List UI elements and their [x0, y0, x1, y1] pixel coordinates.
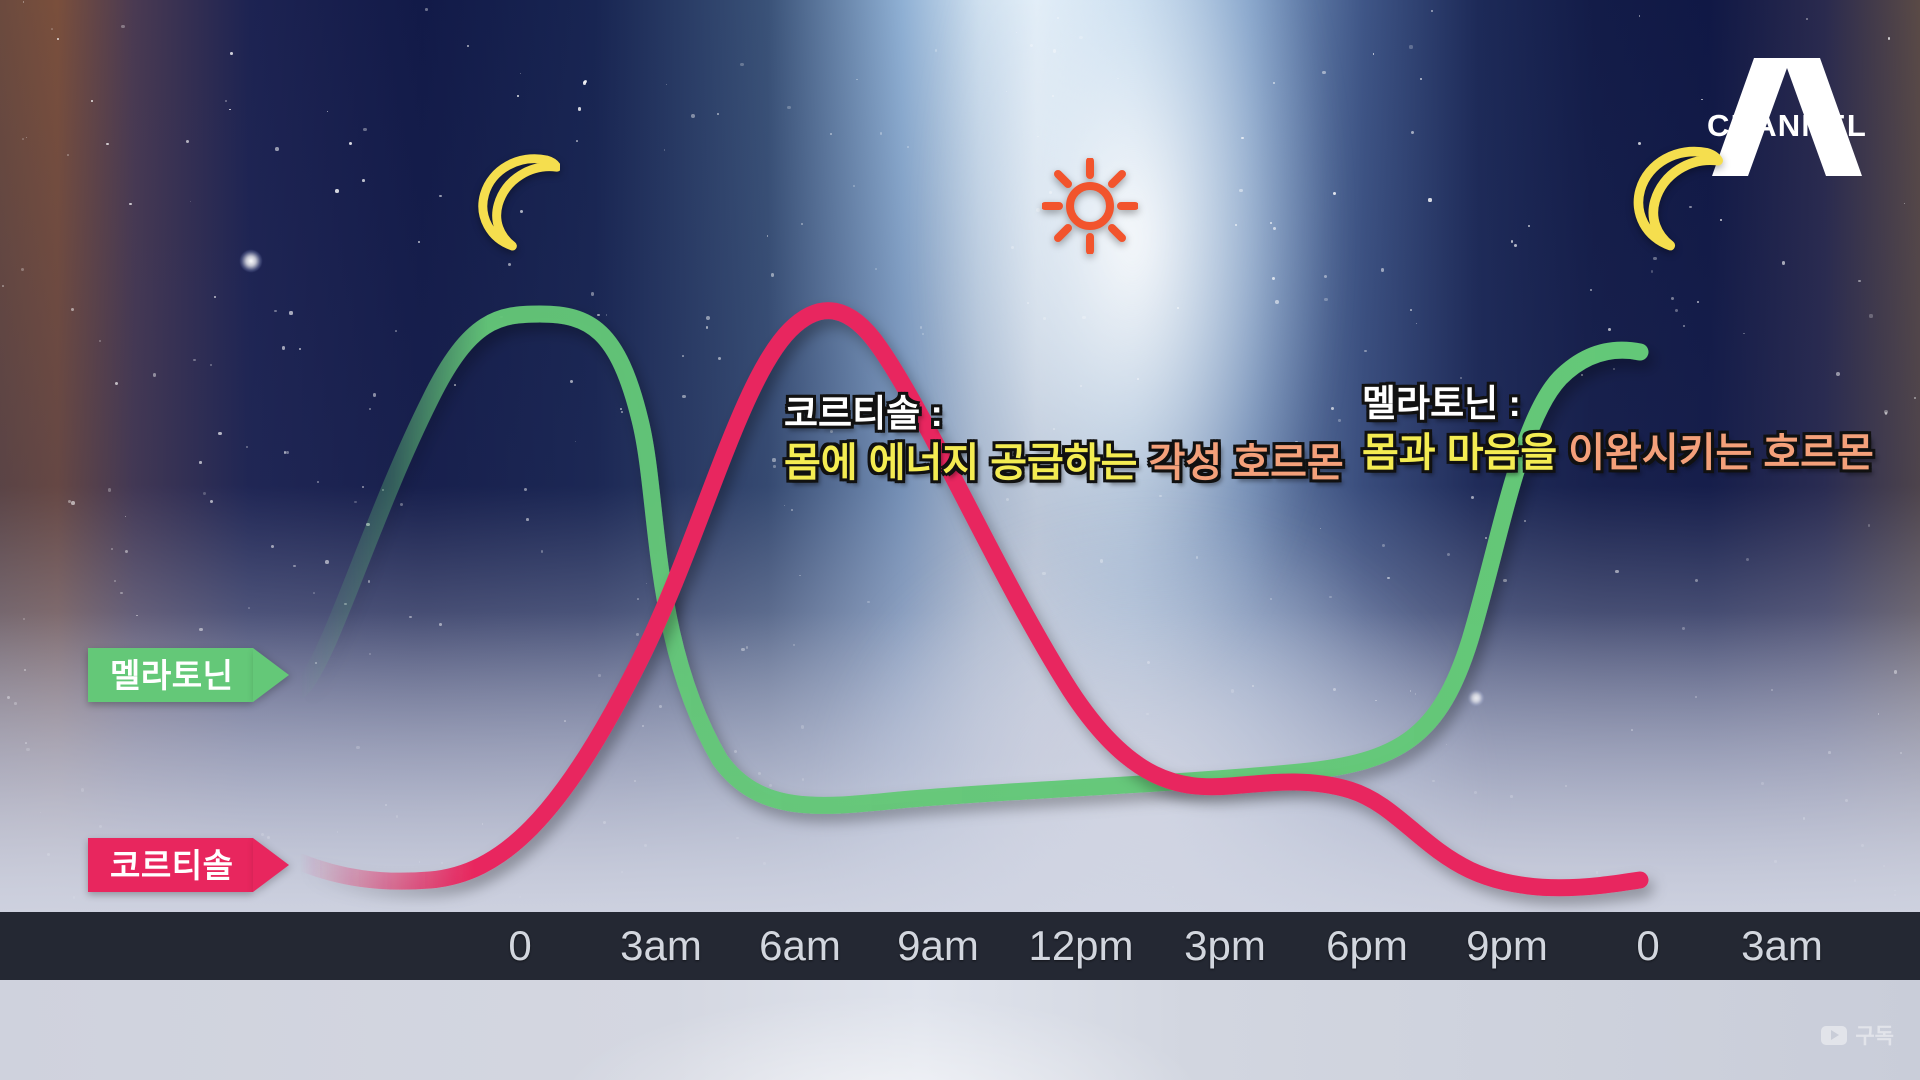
axis-tick-label: 0: [1636, 922, 1659, 970]
legend-melatonin[interactable]: 멜라토닌: [88, 648, 289, 702]
callout-melatonin-phrase-2: 이완시키는 호르몬: [1568, 431, 1874, 475]
axis-tick-label: 9am: [897, 922, 979, 970]
legend-cortisol-arrow-icon: [253, 838, 289, 892]
legend-melatonin-arrow-icon: [253, 648, 289, 702]
legend-melatonin-label: 멜라토닌: [88, 648, 253, 702]
chart-canvas: CHANNEL: [0, 0, 1920, 1080]
lower-backdrop: [0, 980, 1920, 1080]
axis-tick-label: 6am: [759, 922, 841, 970]
legend-cortisol[interactable]: 코르티솔: [88, 838, 289, 892]
callout-cortisol-phrase-2: 각성 호르몬: [1149, 441, 1344, 485]
axis-tick-label: 3am: [1741, 922, 1823, 970]
axis-tick-label: 9pm: [1466, 922, 1548, 970]
subscribe-label: 구독: [1855, 1020, 1894, 1050]
callout-cortisol-phrase-1: 몸에 에너지 공급하는: [784, 441, 1137, 485]
youtube-play-icon: [1821, 1026, 1847, 1045]
axis-tick-label: 3pm: [1184, 922, 1266, 970]
subscribe-watermark[interactable]: 구독: [1821, 1020, 1894, 1050]
legend-cortisol-label: 코르티솔: [88, 838, 253, 892]
axis-tick-label: 3am: [620, 922, 702, 970]
callout-melatonin: 멜라토닌 : 몸과 마음을 이완시키는 호르몬: [1362, 382, 1874, 477]
callout-cortisol-heading: 코르티솔 :: [784, 392, 1344, 436]
callout-melatonin-heading: 멜라토닌 :: [1362, 382, 1874, 426]
moon-icon: [1620, 140, 1724, 252]
axis-tick-label: 0: [508, 922, 531, 970]
callout-melatonin-phrase-1: 몸과 마음을: [1362, 431, 1557, 475]
axis-tick-label: 6pm: [1326, 922, 1408, 970]
axis-tick-label: 12pm: [1028, 922, 1133, 970]
callout-cortisol: 코르티솔 : 몸에 에너지 공급하는 각성 호르몬: [784, 392, 1344, 487]
time-axis-bar: 03am6am9am12pm3pm6pm9pm03am: [0, 912, 1920, 980]
